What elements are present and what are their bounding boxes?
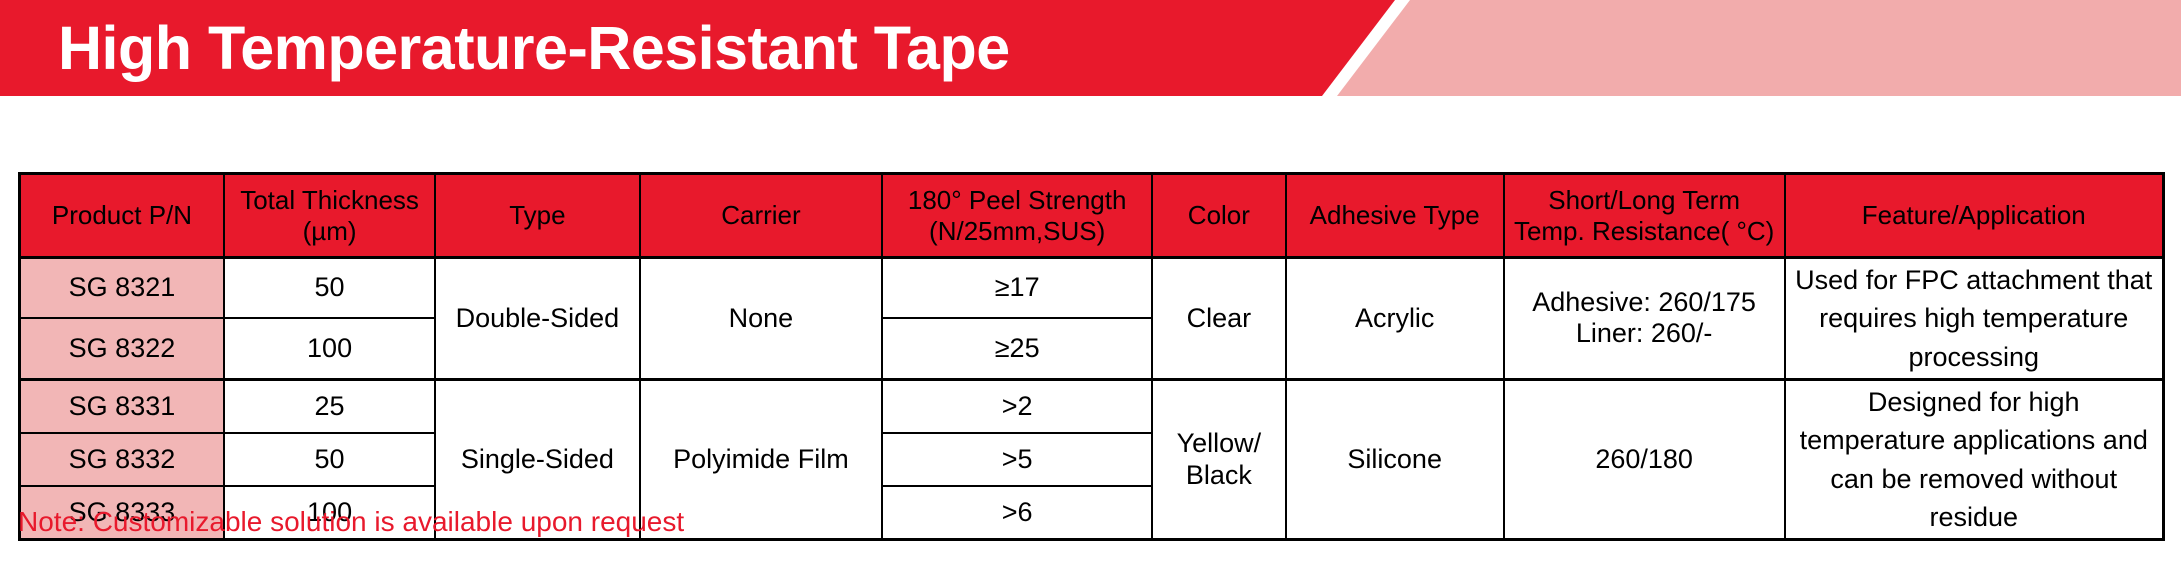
col-header-feature-application: Feature/Application	[1785, 174, 2164, 258]
col-header-temp-resistance-line1: Short/Long Term	[1548, 185, 1740, 215]
cell-type: Double-Sided	[435, 258, 639, 380]
cell-temp-line1: Adhesive: 260/175	[1532, 287, 1756, 317]
cell-product-pn: SG 8322	[20, 318, 224, 379]
col-header-total-thickness: Total Thickness (µm)	[224, 174, 435, 258]
cell-temp-resistance: Adhesive: 260/175 Liner: 260/-	[1504, 258, 1785, 380]
product-spec-table: Product P/N Total Thickness (µm) Type Ca…	[18, 172, 2165, 541]
page-title: High Temperature-Resistant Tape	[58, 0, 1010, 96]
table-body: SG 8321 50 Double-Sided None ≥17 Clear A…	[20, 258, 2164, 540]
col-header-peel-strength-line1: 180° Peel Strength	[908, 185, 1127, 215]
table-header: Product P/N Total Thickness (µm) Type Ca…	[20, 174, 2164, 258]
cell-peel: >2	[882, 379, 1152, 432]
col-header-temp-resistance: Short/Long Term Temp. Resistance( °C)	[1504, 174, 1785, 258]
cell-peel: >6	[882, 486, 1152, 539]
cell-thickness: 100	[224, 318, 435, 379]
cell-peel: ≥17	[882, 258, 1152, 319]
cell-color: Yellow/ Black	[1152, 379, 1286, 539]
cell-product-pn: SG 8332	[20, 433, 224, 486]
cell-thickness: 50	[224, 433, 435, 486]
cell-feature: Used for FPC attachment that requires hi…	[1785, 258, 2164, 380]
table-row: SG 8321 50 Double-Sided None ≥17 Clear A…	[20, 258, 2164, 319]
cell-color-line1: Yellow/	[1177, 428, 1262, 458]
col-header-adhesive-type: Adhesive Type	[1286, 174, 1504, 258]
table-header-row: Product P/N Total Thickness (µm) Type Ca…	[20, 174, 2164, 258]
table-row: SG 8331 25 Single-Sided Polyimide Film >…	[20, 379, 2164, 432]
spec-table-container: Product P/N Total Thickness (µm) Type Ca…	[18, 172, 2165, 541]
cell-temp-line2: Liner: 260/-	[1576, 318, 1713, 348]
cell-color-line2: Black	[1186, 460, 1252, 490]
cell-product-pn: SG 8331	[20, 379, 224, 432]
col-header-type: Type	[435, 174, 639, 258]
cell-feature: Designed for high temperature applicatio…	[1785, 379, 2164, 539]
cell-adhesive: Acrylic	[1286, 258, 1504, 380]
col-header-peel-strength-line2: (N/25mm,SUS)	[929, 216, 1105, 246]
cell-thickness: 50	[224, 258, 435, 319]
note-text: Note: Customizable solution is available…	[18, 506, 684, 538]
col-header-temp-resistance-line2: Temp. Resistance( °C)	[1514, 216, 1774, 246]
cell-product-pn: SG 8321	[20, 258, 224, 319]
cell-carrier: None	[640, 258, 883, 380]
col-header-total-thickness-line1: Total Thickness	[240, 185, 419, 215]
cell-adhesive: Silicone	[1286, 379, 1504, 539]
cell-peel: >5	[882, 433, 1152, 486]
cell-temp-resistance: 260/180	[1504, 379, 1785, 539]
cell-color: Clear	[1152, 258, 1286, 380]
cell-peel: ≥25	[882, 318, 1152, 379]
col-header-carrier: Carrier	[640, 174, 883, 258]
col-header-peel-strength: 180° Peel Strength (N/25mm,SUS)	[882, 174, 1152, 258]
col-header-total-thickness-line2: (µm)	[303, 216, 357, 246]
col-header-product-pn: Product P/N	[20, 174, 224, 258]
page-header-banner: High Temperature-Resistant Tape	[0, 0, 2181, 96]
cell-thickness: 25	[224, 379, 435, 432]
col-header-color: Color	[1152, 174, 1286, 258]
